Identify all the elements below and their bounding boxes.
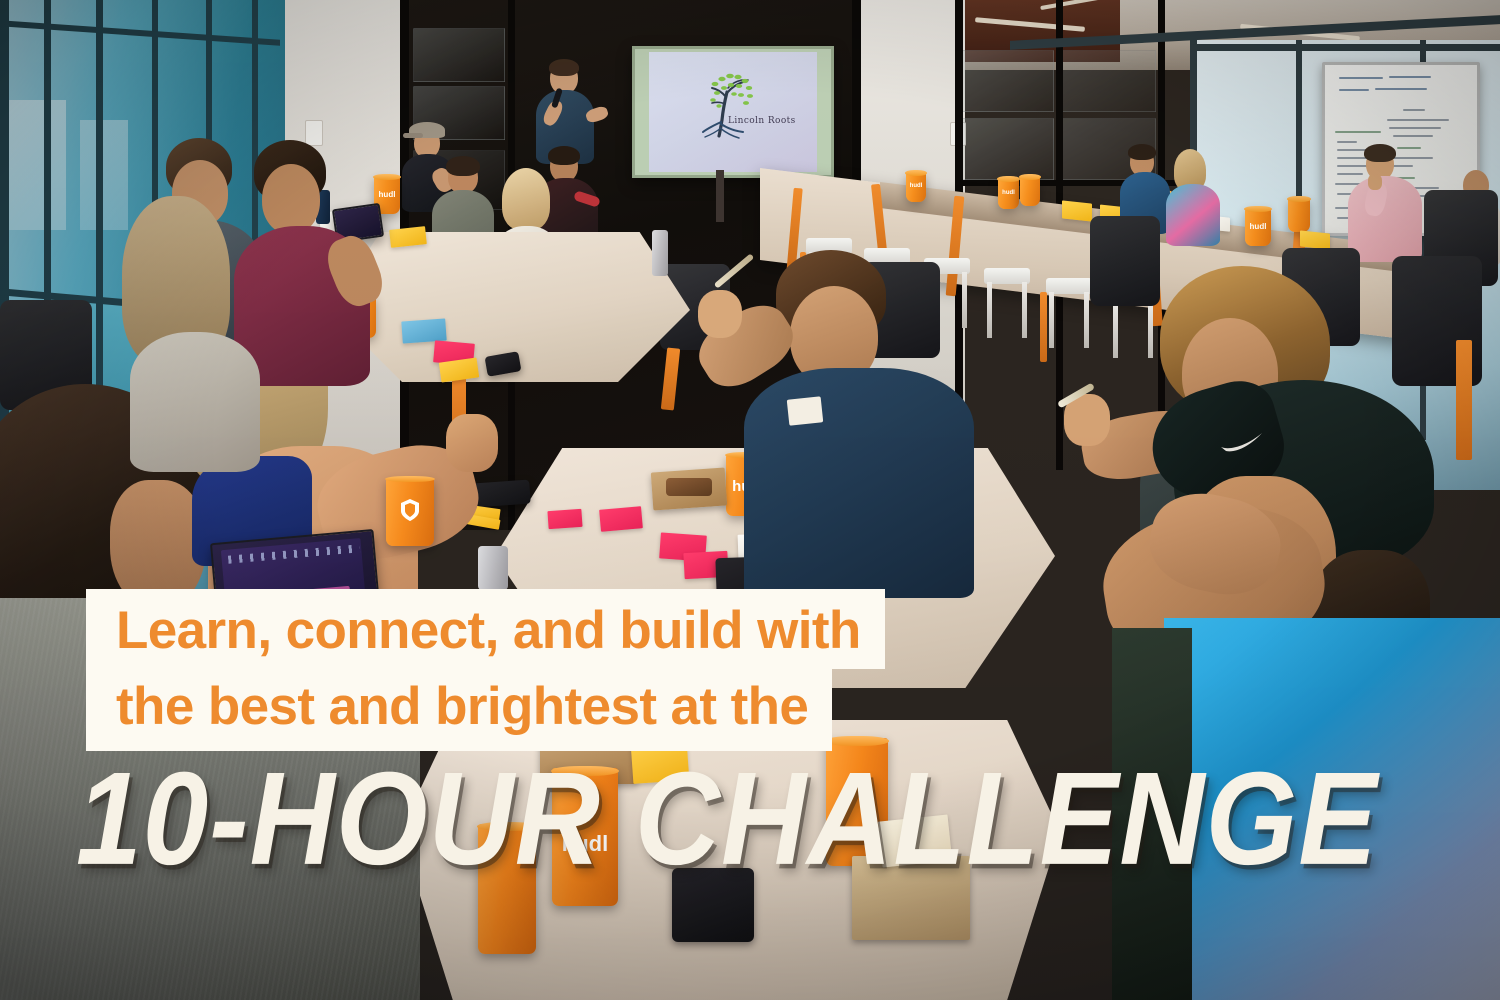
- sticky-note: [1300, 230, 1330, 249]
- hudl-cup: hudl: [1245, 208, 1271, 246]
- cap-brim: [403, 133, 423, 138]
- hudl-cup: hudl: [906, 172, 926, 202]
- glass-pane: [1062, 50, 1156, 112]
- window-sky: [6, 100, 66, 230]
- cup-label: hudl: [374, 190, 400, 199]
- name-badge: [787, 396, 824, 425]
- sticky-note: [599, 506, 643, 532]
- sticky-note: [547, 509, 582, 529]
- lincoln-roots-tree-icon: [695, 62, 757, 140]
- hudl-cup: hudl: [998, 178, 1019, 209]
- glass-pane: [960, 118, 1054, 180]
- cup-label: hudl: [906, 183, 926, 189]
- cup-label: hudl: [1245, 222, 1271, 231]
- hudl-shield-icon: [399, 498, 421, 522]
- nike-swoosh-icon: [1220, 432, 1264, 452]
- glass-pane: [960, 50, 1054, 112]
- lincoln-roots-logo-text: Lincoln Roots: [728, 116, 796, 127]
- kicker-text-block: Learn, connect, and build with the best …: [86, 589, 885, 751]
- table-leg: [1456, 340, 1472, 460]
- office-chair: [1090, 216, 1160, 306]
- headline-title: 10-HOUR CHALLENGE: [76, 753, 1378, 885]
- thermos: [478, 546, 508, 590]
- window-sky: [80, 120, 128, 230]
- water-bottle: [652, 230, 668, 276]
- screen-stand: [716, 170, 724, 222]
- forearm: [1036, 576, 1156, 756]
- kicker-line-2: the best and brightest at the: [86, 669, 832, 751]
- window-frame-horizontal: [1190, 44, 1500, 51]
- hudl-cup: [386, 478, 434, 546]
- hudl-cup: [1020, 176, 1040, 206]
- cup-label: hudl: [998, 190, 1019, 196]
- sticky-note: [1062, 200, 1092, 221]
- thermostat: [305, 120, 323, 146]
- kicker-line-1: Learn, connect, and build with: [86, 589, 885, 669]
- hudl-cup: [1288, 198, 1310, 232]
- sticky-note: [389, 226, 427, 248]
- food: [666, 478, 712, 496]
- promo-poster: Lincoln Roots: [0, 0, 1500, 1000]
- stool-leg: [1040, 292, 1047, 362]
- glass-pane: [413, 28, 505, 82]
